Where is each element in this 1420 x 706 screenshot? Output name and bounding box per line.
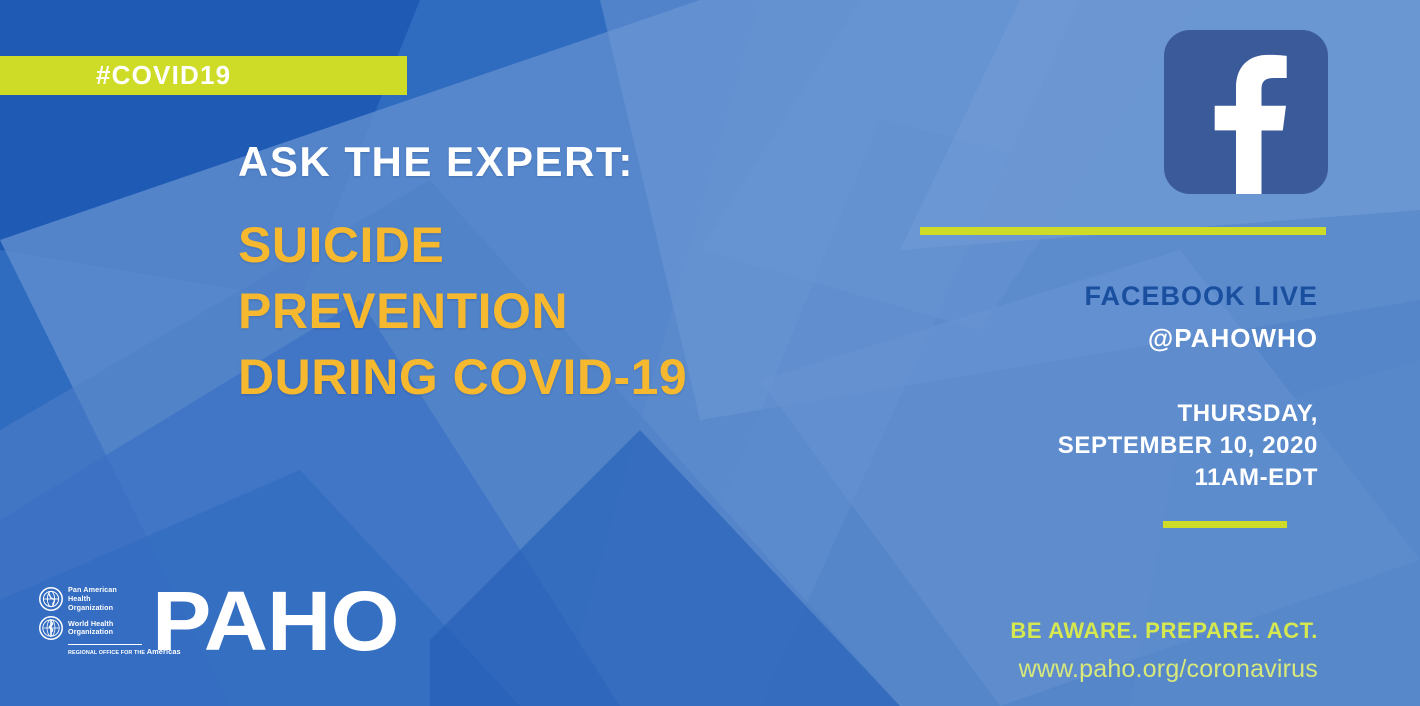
paho-emblem-group: Pan American Health Organization [38,586,142,656]
region-label: REGIONAL OFFICE FOR THE Americas [68,647,142,656]
paho-emblem-label: Pan American Health Organization [68,586,117,612]
website-url[interactable]: www.paho.org/coronavirus [828,655,1318,684]
hashtag-bar: #COVID19 [0,56,407,95]
headline-line-2: PREVENTION [238,278,858,344]
paho-globe-emblem-icon [38,586,64,612]
headline-line-1: SUICIDE [238,212,858,278]
paho-emblem-row: Pan American Health Organization [38,586,142,612]
who-snake-staff-emblem-icon [38,615,64,641]
social-handle: @PAHOWHO [828,323,1318,354]
page-title: SUICIDE PREVENTION DURING COVID-19 [238,212,858,410]
emblem-underline [68,644,142,645]
hashtag-label: #COVID19 [96,60,231,91]
who-emblem-label: World Health Organization [68,620,113,638]
event-datetime: THURSDAY, SEPTEMBER 10, 2020 11AM-EDT [828,398,1318,494]
event-date-line: SEPTEMBER 10, 2020 [828,430,1318,462]
paho-logo-lockup: Pan American Health Organization [38,586,384,656]
facebook-f-icon [1164,30,1328,194]
promo-banner: #COVID19 ASK THE EXPERT: SUICIDE PREVENT… [0,0,1420,706]
campaign-tagline: BE AWARE. PREPARE. ACT. [828,618,1318,644]
paho-wordmark: PAHO [152,587,398,656]
event-day: THURSDAY, [828,398,1318,430]
eyebrow-text: ASK THE EXPERT: [238,140,858,184]
event-time: 11AM-EDT [828,462,1318,494]
divider-rule-top [920,227,1326,235]
headline-line-3: DURING COVID-19 [238,344,858,410]
who-emblem-row: World Health Organization [38,615,142,641]
divider-rule-bottom [1163,521,1287,528]
channel-label: FACEBOOK LIVE [828,281,1318,312]
headline-block: ASK THE EXPERT: SUICIDE PREVENTION DURIN… [238,140,858,410]
